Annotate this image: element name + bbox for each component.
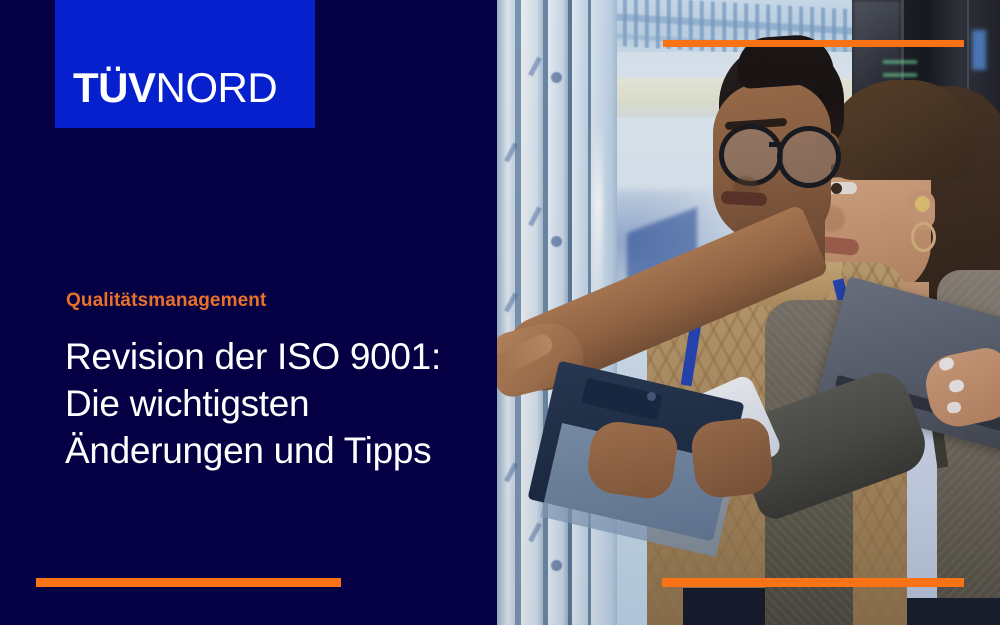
woman-earbud (915, 196, 930, 212)
accent-bar-bottom-left (36, 578, 341, 587)
man-lips (721, 191, 768, 206)
man-hand-right (689, 416, 775, 500)
category-eyebrow: Qualitätsmanagement (66, 290, 266, 313)
rack-marker-dot (551, 72, 562, 83)
page-title: Revision der ISO 9001: Die wichtigsten Ä… (65, 333, 485, 474)
headline-line-2: Die wichtigsten (65, 380, 485, 427)
logo-nord-text: NORD (156, 64, 278, 111)
tuv-nord-logo[interactable]: TÜVNORD (55, 0, 315, 128)
logo-wordmark: TÜVNORD (73, 67, 277, 109)
rack-marker-dot (551, 236, 562, 247)
glasses-lens-right-icon (777, 126, 841, 188)
glasses-bridge-icon (769, 142, 783, 147)
rack-marker-dot (551, 560, 562, 571)
server-indicator-blue-icon (972, 30, 986, 70)
woman-hoop-earring (911, 222, 936, 252)
woman-pupil (831, 183, 842, 194)
accent-bar-bottom-right (662, 578, 964, 587)
promotional-banner: TÜVNORD Qualitätsmanagement Revision der… (0, 0, 1000, 625)
rack-panel (497, 0, 515, 625)
clipboard-clip-dot (647, 392, 656, 401)
accent-bar-top-right (663, 40, 964, 47)
hero-photograph (497, 0, 1000, 625)
logo-tuv-text: TÜV (73, 64, 156, 111)
headline-line-1: Revision der ISO 9001: (65, 333, 485, 380)
headline-line-3: Änderungen und Tipps (65, 427, 485, 474)
